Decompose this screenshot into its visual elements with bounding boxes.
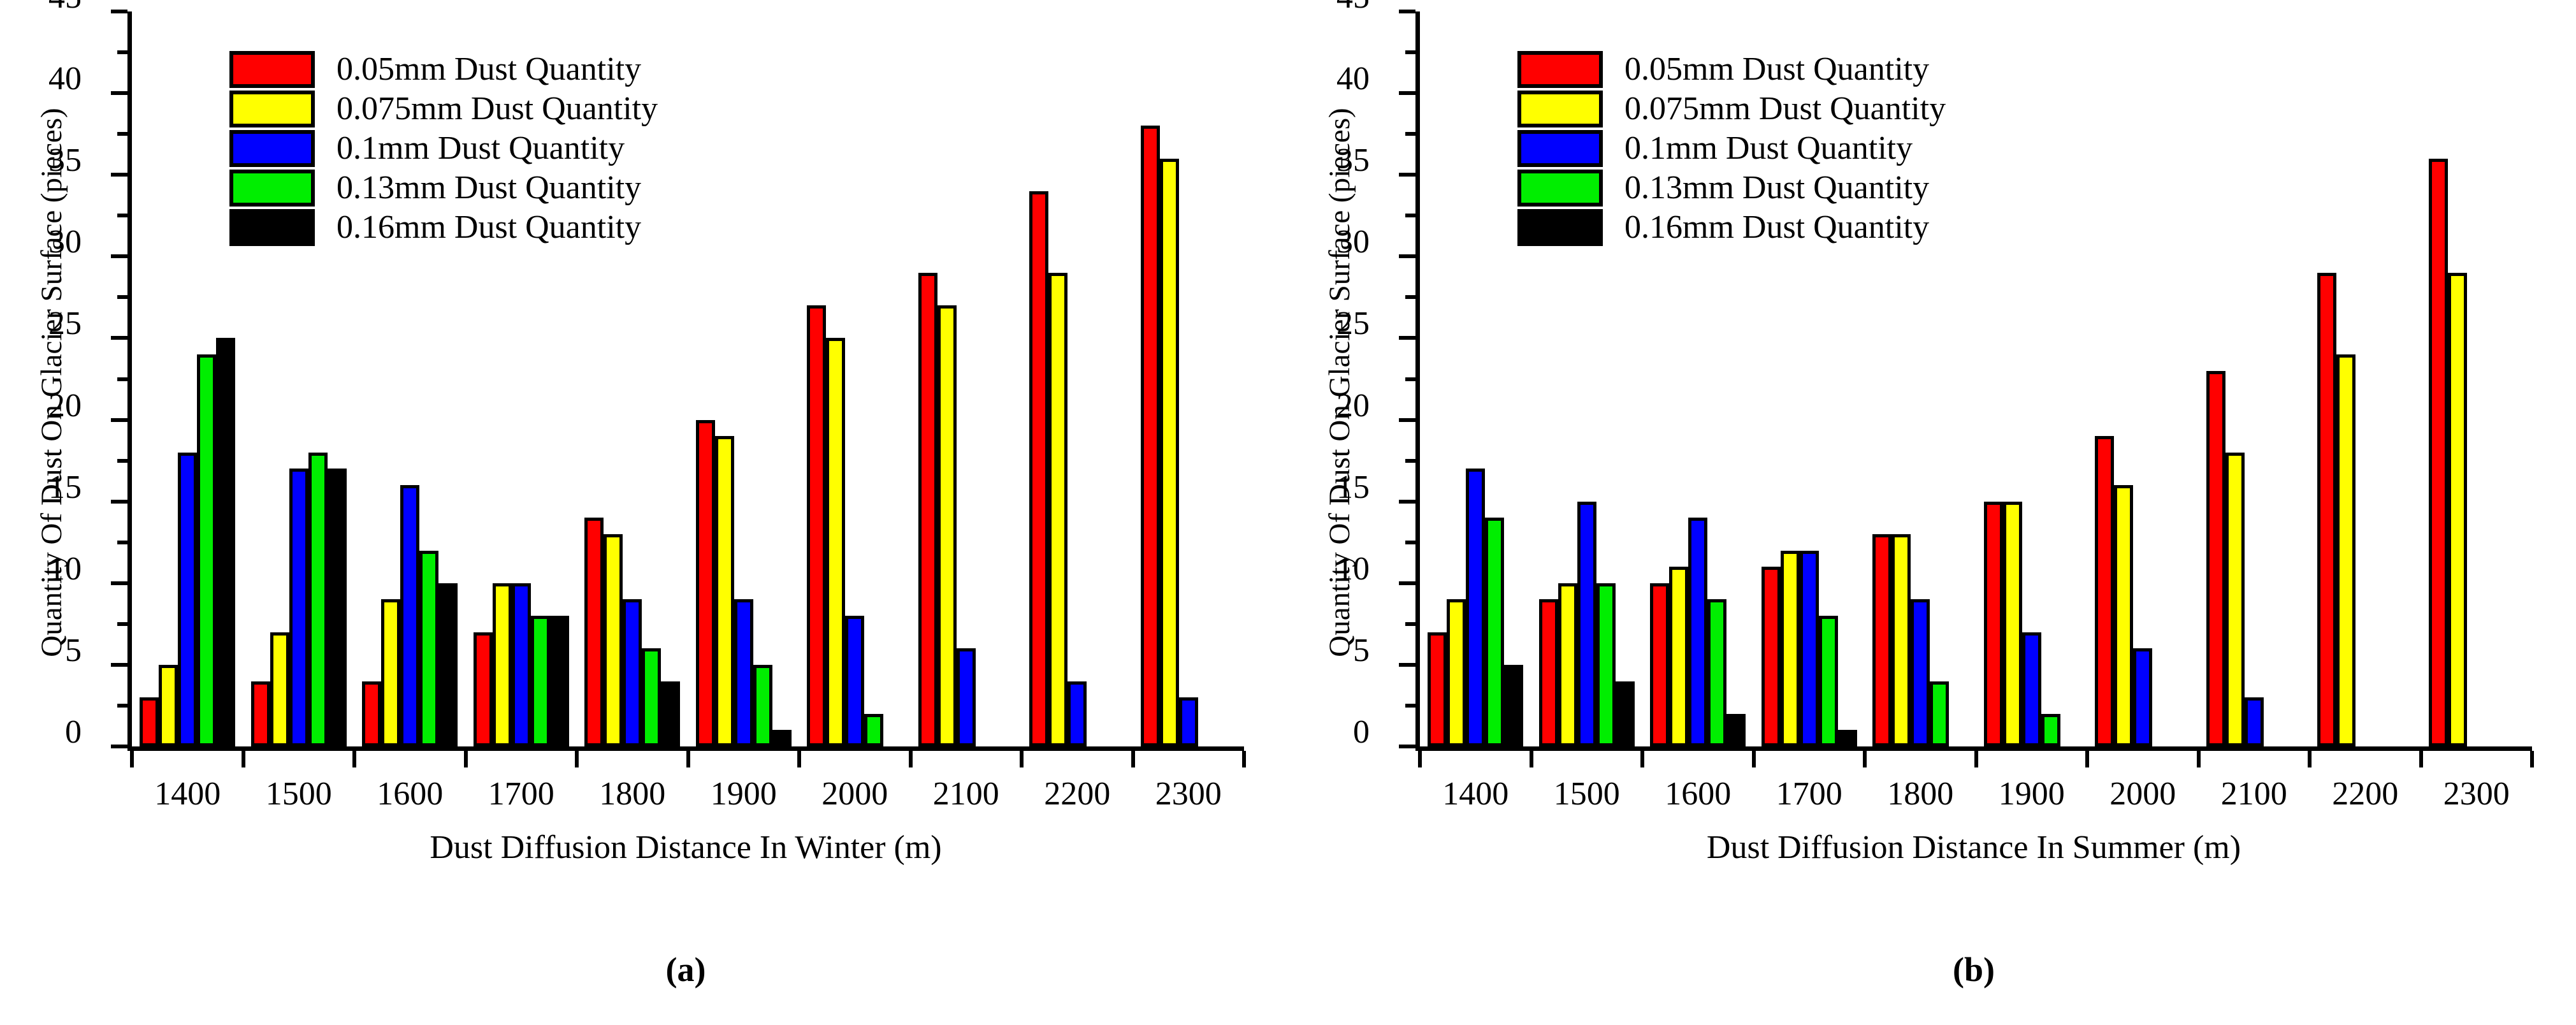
bar [2317, 273, 2336, 746]
x-axis-title-a: Dust Diffusion Distance In Winter (m) [127, 829, 1244, 867]
bar-group [140, 11, 235, 746]
bar [289, 469, 308, 746]
x-tick [2197, 751, 2201, 767]
legend-a: 0.05mm Dust Quantity0.075mm Dust Quantit… [229, 50, 658, 247]
bar [1160, 159, 1179, 746]
bar [1485, 518, 1504, 746]
x-tick-label: 1500 [266, 776, 332, 812]
legend-swatch-icon [229, 130, 315, 167]
bar-group [1141, 11, 1236, 746]
y-tick-minor [1405, 704, 1415, 708]
y-tick-major [111, 91, 127, 95]
legend-row[interactable]: 0.16mm Dust Quantity [1517, 208, 1946, 247]
y-tick-major [1399, 663, 1415, 667]
y-axis-line-a [127, 11, 132, 751]
bar [772, 730, 792, 746]
bar [715, 436, 734, 746]
bar [140, 697, 159, 746]
legend-swatch-icon [1517, 91, 1603, 127]
bar [493, 583, 512, 746]
y-tick-minor [1405, 377, 1415, 381]
bar [1911, 599, 1930, 746]
x-tick [1020, 751, 1024, 767]
x-axis-line-b [1415, 746, 2532, 751]
bar [623, 599, 642, 746]
bar [807, 305, 826, 746]
bar [864, 714, 883, 746]
bar [1466, 469, 1485, 746]
x-tick-label: 2300 [1155, 776, 1222, 812]
bar [362, 681, 381, 746]
panel-caption-a: (a) [127, 950, 1244, 989]
y-tick-major [1399, 745, 1415, 748]
y-tick-major [111, 254, 127, 258]
x-axis-line-a [127, 746, 1244, 751]
x-tick-label: 1800 [599, 776, 665, 812]
y-tick-minor [117, 622, 127, 626]
legend-b: 0.05mm Dust Quantity0.075mm Dust Quantit… [1517, 50, 1946, 247]
bar-group [2429, 11, 2524, 746]
bar [2133, 648, 2152, 746]
legend-label: 0.1mm Dust Quantity [1624, 130, 1913, 167]
bar-group [1029, 11, 1125, 746]
y-tick-minor [1405, 214, 1415, 217]
bar [308, 453, 328, 746]
y-tick-major [1399, 581, 1415, 585]
y-tick-label: 20 [48, 389, 82, 423]
y-tick-major [111, 336, 127, 340]
bar [1892, 534, 1911, 746]
bar [1930, 681, 1949, 746]
bar [1872, 534, 1892, 746]
y-tick-label: 20 [1336, 389, 1370, 423]
bar [2206, 371, 2225, 746]
legend-row[interactable]: 0.13mm Dust Quantity [1517, 168, 1946, 208]
bar [2003, 502, 2022, 746]
y-tick-minor [1405, 50, 1415, 54]
bar [2041, 714, 2060, 746]
bar [1781, 551, 1800, 746]
y-tick-label: 40 [48, 62, 82, 96]
bar [1800, 551, 1819, 746]
y-tick-label: 10 [1336, 553, 1370, 586]
legend-row[interactable]: 0.075mm Dust Quantity [229, 89, 658, 129]
legend-swatch-icon [1517, 209, 1603, 246]
bar [1577, 502, 1596, 746]
y-tick-major [111, 418, 127, 422]
bar [251, 681, 270, 746]
bar [734, 599, 753, 746]
bar [661, 681, 680, 746]
bar [1819, 616, 1838, 746]
x-tick-label: 2200 [2332, 776, 2398, 812]
y-tick-label: 35 [48, 144, 82, 177]
bar-group [918, 11, 1014, 746]
y-tick-major [1399, 418, 1415, 422]
x-tick [1863, 751, 1867, 767]
x-tick-label: 1900 [1999, 776, 2065, 812]
y-tick-minor [117, 214, 127, 217]
legend-label: 0.075mm Dust Quantity [1624, 91, 1946, 127]
y-tick-label: 15 [48, 471, 82, 504]
y-tick-minor [117, 132, 127, 136]
x-tick [686, 751, 690, 767]
bar [178, 453, 197, 746]
bar [1616, 681, 1635, 746]
bar-group [1984, 11, 2080, 746]
legend-label: 0.13mm Dust Quantity [1624, 170, 1929, 207]
x-tick-label: 1800 [1887, 776, 1953, 812]
x-tick-label: 2000 [821, 776, 888, 812]
x-tick-label: 2100 [2221, 776, 2287, 812]
figure-root: Quantity Of Dust On Glacier Surface (pie… [0, 0, 2576, 1025]
x-tick [352, 751, 356, 767]
y-tick-label: 5 [1353, 634, 1370, 667]
bar [381, 599, 400, 746]
panel-b: Quantity Of Dust On Glacier Surface (pie… [1288, 0, 2576, 1025]
legend-swatch-icon [229, 209, 315, 246]
y-tick-label: 40 [1336, 62, 1370, 96]
bar [400, 485, 419, 746]
x-tick-label: 1400 [1442, 776, 1509, 812]
x-tick-label: 2200 [1044, 776, 1110, 812]
y-tick-major [111, 500, 127, 504]
bar [1048, 273, 1067, 746]
x-tick [242, 751, 245, 767]
bar [2429, 159, 2448, 746]
y-tick-minor [117, 459, 127, 463]
legend-label: 0.05mm Dust Quantity [336, 51, 641, 88]
bar [1141, 126, 1160, 746]
x-tick [1752, 751, 1756, 767]
legend-swatch-icon [229, 51, 315, 88]
bar [1984, 502, 2003, 746]
x-tick [1131, 751, 1135, 767]
y-tick-major [1399, 91, 1415, 95]
bar-group [696, 11, 792, 746]
y-tick-label: 25 [1336, 307, 1370, 340]
bar [474, 632, 493, 746]
legend-label: 0.1mm Dust Quantity [336, 130, 625, 167]
y-tick-major [1399, 500, 1415, 504]
bar [2336, 354, 2355, 746]
y-tick-minor [1405, 132, 1415, 136]
bar [1838, 730, 1857, 746]
x-tick-label: 1700 [1776, 776, 1842, 812]
y-tick-minor [117, 377, 127, 381]
y-axis-line-b [1415, 11, 1420, 751]
x-tick [464, 751, 468, 767]
bar [1650, 583, 1669, 746]
bar [270, 632, 289, 746]
y-tick-minor [117, 704, 127, 708]
x-tick [2085, 751, 2089, 767]
bar [1067, 681, 1087, 746]
bar [826, 338, 845, 746]
bar-group [1428, 11, 1523, 746]
bar [1669, 567, 1688, 746]
bar [2022, 632, 2041, 746]
y-tick-label: 15 [1336, 471, 1370, 504]
bar [696, 420, 715, 746]
x-tick [1640, 751, 1644, 767]
x-tick [2530, 751, 2534, 767]
legend-row[interactable]: 0.1mm Dust Quantity [1517, 129, 1946, 168]
bar [2225, 453, 2245, 746]
x-axis-title-b: Dust Diffusion Distance In Summer (m) [1415, 829, 2532, 867]
bar [531, 616, 550, 746]
bar [197, 354, 216, 746]
bar [512, 583, 531, 746]
x-tick-label: 2100 [933, 776, 999, 812]
x-tick-label: 1500 [1554, 776, 1620, 812]
y-tick-label: 30 [48, 226, 82, 259]
x-tick [1242, 751, 1246, 767]
x-tick [909, 751, 913, 767]
bar [753, 665, 772, 746]
legend-swatch-icon [1517, 51, 1603, 88]
x-tick-label: 1600 [1665, 776, 1731, 812]
legend-label: 0.13mm Dust Quantity [336, 170, 641, 207]
x-tick [797, 751, 801, 767]
bar [2114, 485, 2133, 746]
y-tick-label: 25 [48, 307, 82, 340]
x-tick [130, 751, 134, 767]
legend-swatch-icon [1517, 130, 1603, 167]
bar [1707, 599, 1726, 746]
legend-label: 0.16mm Dust Quantity [336, 209, 641, 246]
legend-row[interactable]: 0.13mm Dust Quantity [229, 168, 658, 208]
bar [1179, 697, 1198, 746]
bar [1558, 583, 1577, 746]
y-tick-major [111, 745, 127, 748]
x-tick-label: 1600 [377, 776, 443, 812]
legend-swatch-icon [229, 91, 315, 127]
x-tick [575, 751, 579, 767]
bar [438, 583, 458, 746]
bar-group [2317, 11, 2413, 746]
bar [1762, 567, 1781, 746]
bar-group [2095, 11, 2190, 746]
bar [1726, 714, 1746, 746]
y-tick-label: 30 [1336, 226, 1370, 259]
x-tick [1418, 751, 1422, 767]
x-tick [2308, 751, 2312, 767]
bar [604, 534, 623, 746]
y-tick-label: 45 [48, 0, 82, 14]
y-tick-label: 0 [65, 716, 82, 749]
y-tick-major [1399, 10, 1415, 13]
panel-a: Quantity Of Dust On Glacier Surface (pie… [0, 0, 1288, 1025]
y-tick-major [111, 663, 127, 667]
y-tick-label: 0 [1353, 716, 1370, 749]
legend-row[interactable]: 0.075mm Dust Quantity [1517, 89, 1946, 129]
bar [2095, 436, 2114, 746]
panel-caption-b: (b) [1415, 950, 2532, 989]
bar [1688, 518, 1707, 746]
y-tick-major [1399, 336, 1415, 340]
legend-label: 0.16mm Dust Quantity [1624, 209, 1929, 246]
y-tick-minor [117, 541, 127, 544]
y-tick-minor [117, 50, 127, 54]
legend-label: 0.05mm Dust Quantity [1624, 51, 1929, 88]
y-tick-label: 45 [1336, 0, 1370, 14]
x-tick [1530, 751, 1533, 767]
bar [1029, 191, 1048, 746]
bar [216, 338, 235, 746]
bar [159, 665, 178, 746]
bar [957, 648, 976, 746]
y-tick-major [111, 581, 127, 585]
y-tick-label: 35 [1336, 144, 1370, 177]
y-tick-label: 10 [48, 553, 82, 586]
legend-row[interactable]: 0.1mm Dust Quantity [229, 129, 658, 168]
x-tick-label: 2300 [2443, 776, 2510, 812]
x-tick [2419, 751, 2423, 767]
x-tick-label: 1700 [488, 776, 554, 812]
x-tick-label: 1900 [711, 776, 777, 812]
bar [1539, 599, 1558, 746]
bar [918, 273, 937, 746]
y-tick-major [111, 10, 127, 13]
legend-row[interactable]: 0.16mm Dust Quantity [229, 208, 658, 247]
bar [550, 616, 569, 746]
y-tick-label: 5 [65, 634, 82, 667]
bar [845, 616, 864, 746]
bar [328, 469, 347, 746]
y-tick-minor [1405, 541, 1415, 544]
bar [1447, 599, 1466, 746]
bar [584, 518, 604, 746]
bar [419, 551, 438, 746]
x-tick-label: 2000 [2109, 776, 2176, 812]
y-tick-major [111, 173, 127, 177]
legend-row[interactable]: 0.05mm Dust Quantity [229, 50, 658, 89]
bar [1428, 632, 1447, 746]
legend-row[interactable]: 0.05mm Dust Quantity [1517, 50, 1946, 89]
legend-swatch-icon [229, 170, 315, 207]
y-tick-minor [117, 295, 127, 299]
y-tick-minor [1405, 459, 1415, 463]
legend-swatch-icon [1517, 170, 1603, 207]
bar-group [807, 11, 902, 746]
bar [937, 305, 957, 746]
bar-group [2206, 11, 2302, 746]
x-tick [1974, 751, 1978, 767]
bar [642, 648, 661, 746]
y-tick-minor [1405, 295, 1415, 299]
y-tick-major [1399, 254, 1415, 258]
bar [1504, 665, 1523, 746]
legend-label: 0.075mm Dust Quantity [336, 91, 658, 127]
bar [2448, 273, 2467, 746]
bar [1596, 583, 1616, 746]
x-tick-label: 1400 [154, 776, 221, 812]
y-tick-minor [1405, 622, 1415, 626]
bar [2245, 697, 2264, 746]
y-tick-major [1399, 173, 1415, 177]
